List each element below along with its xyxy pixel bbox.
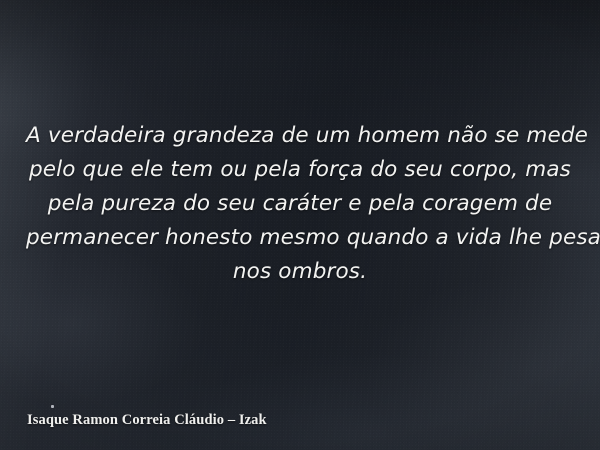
quote-line: A verdadeira grandeza de um homem não se… <box>26 119 574 153</box>
author-attribution: Isaque Ramon Correia Cláudio – Izak <box>27 411 267 429</box>
quote-line: pela pureza do seu caráter e pela corage… <box>26 187 574 221</box>
quote-line: pelo que ele tem ou pela força do seu co… <box>26 153 574 187</box>
quote-poster: A verdadeira grandeza de um homem não se… <box>0 0 600 450</box>
quote-line: permanecer honesto mesmo quando a vida l… <box>26 221 574 255</box>
quote-text-block: A verdadeira grandeza de um homem não se… <box>0 119 600 289</box>
chalk-speck <box>51 405 54 408</box>
quote-line: nos ombros. <box>26 255 574 289</box>
